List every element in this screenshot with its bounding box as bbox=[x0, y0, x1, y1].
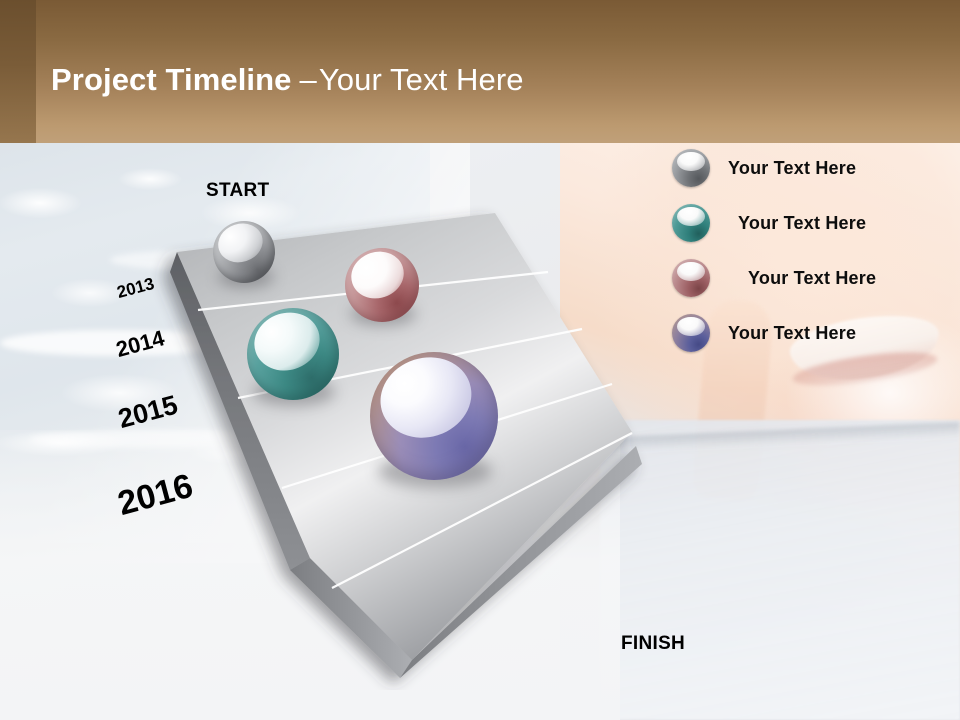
legend-bullet-purple-icon bbox=[672, 314, 710, 352]
legend-label-4: Your Text Here bbox=[728, 323, 856, 344]
page-title-dash: – bbox=[292, 62, 319, 97]
legend-item-4[interactable]: Your Text Here bbox=[672, 313, 856, 353]
legend-bullet-purple-highlight bbox=[677, 317, 705, 337]
teal-sphere[interactable] bbox=[247, 308, 339, 400]
slide-canvas: Project Timeline–Your Text Here bbox=[0, 0, 960, 720]
purple-sphere[interactable] bbox=[370, 352, 498, 480]
page-title: Project Timeline–Your Text Here bbox=[51, 58, 524, 102]
legend-item-3[interactable]: Your Text Here bbox=[672, 258, 876, 298]
legend-bullet-gray-highlight bbox=[677, 152, 705, 172]
legend-bullet-gray-icon bbox=[672, 149, 710, 187]
start-label: START bbox=[206, 180, 269, 202]
title-bar-accent-stripe bbox=[0, 0, 36, 143]
title-bar: Project Timeline–Your Text Here bbox=[0, 0, 960, 143]
page-title-strong: Project Timeline bbox=[51, 62, 292, 97]
legend-bullet-teal-highlight bbox=[677, 207, 705, 227]
legend-item-1[interactable]: Your Text Here bbox=[672, 148, 856, 188]
legend-item-2[interactable]: Your Text Here bbox=[672, 203, 866, 243]
legend-label-2: Your Text Here bbox=[738, 213, 866, 234]
legend-bullet-teal-icon bbox=[672, 204, 710, 242]
page-title-light: Your Text Here bbox=[319, 62, 524, 97]
legend-label-1: Your Text Here bbox=[728, 158, 856, 179]
legend-bullet-mauve-highlight bbox=[677, 262, 705, 282]
red-sphere[interactable] bbox=[345, 248, 419, 322]
legend-label-3: Your Text Here bbox=[748, 268, 876, 289]
start-sphere[interactable] bbox=[213, 221, 275, 283]
legend-bullet-mauve-icon bbox=[672, 259, 710, 297]
finish-label: FINISH bbox=[621, 633, 685, 655]
